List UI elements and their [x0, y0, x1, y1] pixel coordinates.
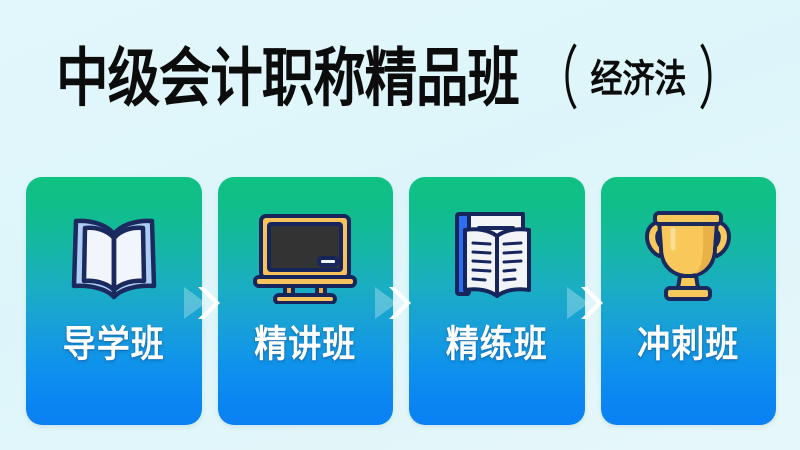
stage-card-label: 冲刺班: [637, 325, 739, 362]
paren-open: （: [536, 44, 579, 113]
stage-card-label: 精讲班: [254, 325, 356, 362]
page-title: 中级会计职称精品班 （ 经济法 ）: [0, 44, 800, 114]
stage-card-jinglianban[interactable]: 精练班: [409, 177, 585, 425]
paren-close: ）: [698, 44, 741, 113]
stage-card-daoxueban[interactable]: 导学班: [26, 177, 202, 425]
page-title-main: 中级会计职称精品班: [57, 47, 520, 111]
course-stage-flow: 导学班 精讲班: [26, 177, 776, 425]
page-title-subject: 经济法: [588, 60, 688, 98]
stage-card-chongciban[interactable]: 冲刺班: [601, 177, 777, 425]
stage-card-label: 精练班: [446, 325, 548, 362]
open-book-icon: [26, 177, 202, 327]
stage-card-jingjiangban[interactable]: 精讲班: [218, 177, 394, 425]
workbook-icon: [409, 177, 585, 327]
trophy-icon: [601, 177, 777, 327]
blackboard-icon: [218, 177, 394, 327]
stage-card-label: 导学班: [63, 325, 165, 362]
